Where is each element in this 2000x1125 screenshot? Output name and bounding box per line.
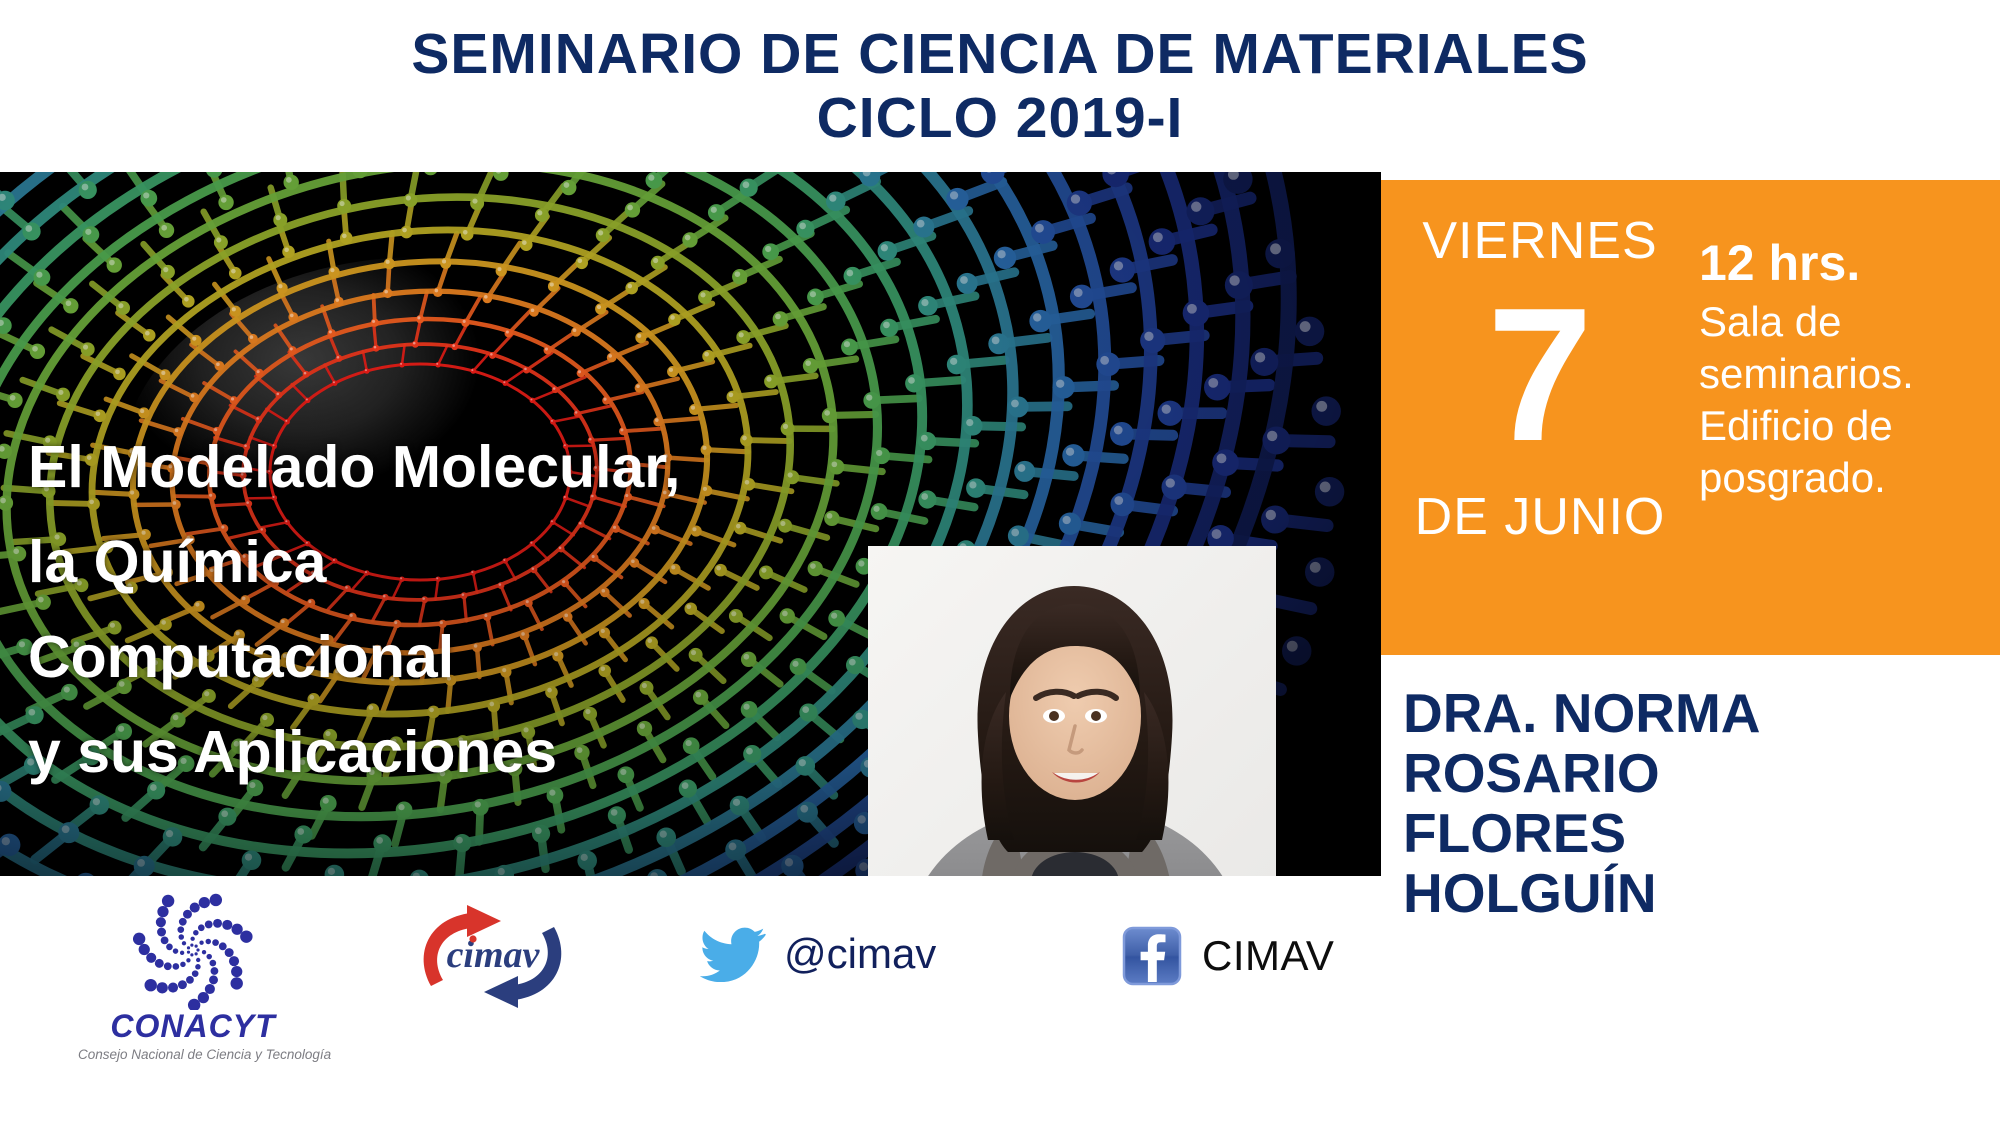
speaker-name-line-2: ROSARIO [1403,743,2000,803]
cimav-arrows-icon: cimav [405,904,580,1009]
cimav-logo: cimav [405,904,580,1009]
poster-footer: CONACYT Consejo Nacional de Ciencia y Te… [0,876,1381,1125]
talk-title-line-3: Computacional [28,610,1058,705]
event-details-panel: VIERNES 7 DE JUNIO 12 hrs. Sala de semin… [1381,180,2000,655]
conacyt-spiral-icon [133,890,253,1010]
talk-title-line-1: El Modelado Molecular, [28,420,1058,515]
conacyt-logo: CONACYT Consejo Nacional de Ciencia y Te… [78,890,308,1062]
event-venue: Sala de seminarios. Edificio de posgrado… [1699,296,1989,504]
event-time-venue-column: 12 hrs. Sala de seminarios. Edificio de … [1699,232,1989,504]
event-date-column: VIERNES 7 DE JUNIO [1405,190,1675,645]
talk-title: El Modelado Molecular, la Química Comput… [28,420,1058,800]
event-weekday: VIERNES [1422,212,1657,270]
talk-title-line-2: la Química [28,515,1058,610]
facebook-f-icon[interactable] [1122,926,1182,986]
twitter-bird-icon[interactable] [700,926,766,982]
speaker-name-block: DRA. NORMA ROSARIO FLORES HOLGUÍN [1381,655,2000,985]
seminar-series-title-line2: CICLO 2019-I [817,86,1184,150]
talk-title-line-4: y sus Aplicaciones [28,705,1058,800]
conacyt-wordmark: CONACYT [78,1008,308,1045]
speaker-name-line-3: FLORES [1403,803,2000,863]
nanotube-hero-image: El Modelado Molecular, la Química Comput… [0,172,1381,876]
conacyt-tagline: Consejo Nacional de Ciencia y Tecnología [78,1047,308,1062]
twitter-link[interactable]: @cimav [700,926,936,982]
twitter-handle[interactable]: @cimav [784,933,936,975]
event-month: DE JUNIO [1415,488,1666,546]
facebook-page-name[interactable]: CIMAV [1202,935,1334,977]
speaker-name-line-1: DRA. NORMA [1403,683,2000,743]
poster-header: SEMINARIO DE CIENCIA DE MATERIALES CICLO… [0,0,2000,172]
event-day-number: 7 [1487,280,1593,470]
seminar-series-title-line1: SEMINARIO DE CIENCIA DE MATERIALES [411,22,1588,86]
cimav-wordmark-text: cimav [447,934,541,976]
event-time: 12 hrs. [1699,232,1989,294]
facebook-link[interactable]: CIMAV [1122,926,1334,986]
speaker-name-line-4: HOLGUÍN [1403,863,2000,923]
